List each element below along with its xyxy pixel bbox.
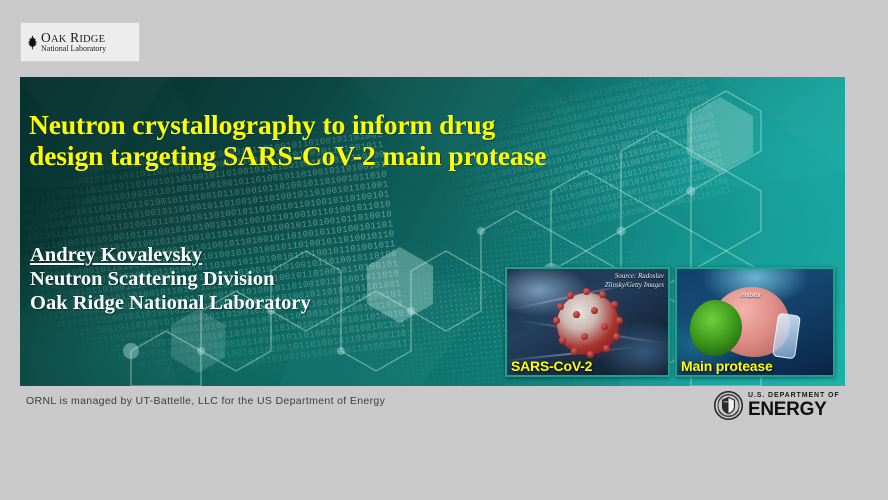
doe-wordmark: U.S. DEPARTMENT OF ENERGY bbox=[748, 392, 840, 419]
credit-line-2: Zlinsky/Getty Images bbox=[605, 281, 664, 289]
inhibitor-annotation: inhibitor bbox=[740, 293, 761, 299]
author-name: Andrey Kovalevsky bbox=[30, 243, 311, 267]
doe-energy-text: ENERGY bbox=[748, 400, 840, 419]
title-line-2: design targeting SARS-CoV-2 main proteas… bbox=[29, 140, 669, 171]
doe-logo: U.S. DEPARTMENT OF ENERGY bbox=[714, 389, 846, 422]
sars-cov-2-label: SARS-CoV-2 bbox=[511, 358, 592, 374]
title-line-1: Neutron crystallography to inform drug bbox=[29, 109, 669, 140]
oak-leaf-icon bbox=[26, 35, 39, 50]
author-organization: Oak Ridge National Laboratory bbox=[30, 291, 311, 315]
footer-management-statement: ORNL is managed by UT-Battelle, LLC for … bbox=[26, 395, 385, 407]
ornl-logo-line1: OAK RIDGE bbox=[41, 31, 106, 46]
doe-department-text: U.S. DEPARTMENT OF bbox=[748, 392, 840, 399]
ornl-logo-line2: National Laboratory bbox=[41, 45, 106, 53]
sars-cov-2-image-panel: Source: Radoslav Zlinsky/Getty Images SA… bbox=[505, 267, 670, 377]
ornl-logo: OAK RIDGE National Laboratory bbox=[20, 22, 140, 62]
main-protease-image-panel: inhibitor Main protease bbox=[675, 267, 835, 377]
sars-cov-2-image: Source: Radoslav Zlinsky/Getty Images SA… bbox=[507, 269, 668, 375]
ornl-logo-wordmark: OAK RIDGE National Laboratory bbox=[41, 31, 106, 54]
virion-body bbox=[557, 293, 619, 355]
author-block: Andrey Kovalevsky Neutron Scattering Div… bbox=[30, 243, 311, 315]
credit-line-1: Source: Radoslav bbox=[615, 272, 664, 280]
main-protease-label: Main protease bbox=[681, 358, 773, 374]
doe-seal-icon bbox=[714, 391, 743, 420]
main-protease-image: inhibitor Main protease bbox=[677, 269, 833, 375]
presentation-slide: 0110101011010010101101001011010010110100… bbox=[20, 77, 845, 386]
image-credit: Source: Radoslav Zlinsky/Getty Images bbox=[578, 272, 664, 289]
page-title: Neutron crystallography to inform drug d… bbox=[29, 109, 669, 171]
author-division: Neutron Scattering Division bbox=[30, 267, 311, 291]
